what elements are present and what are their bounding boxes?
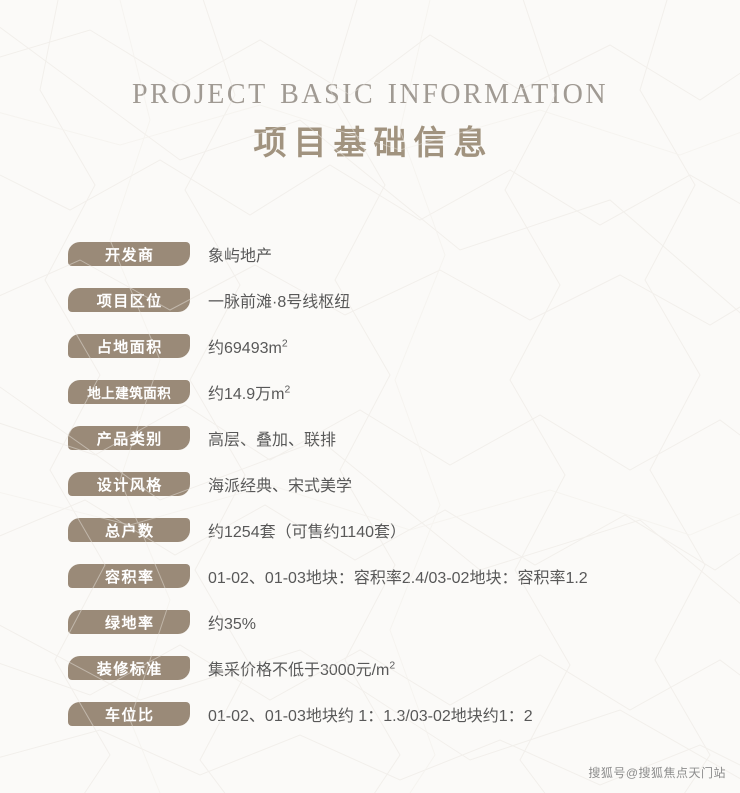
info-row: 地上建筑面积 约14.9万m2 — [68, 380, 740, 404]
info-row: 开发商 象屿地产 — [68, 242, 740, 266]
info-row: 车位比 01-02、01-03地块约 1：1.3/03-02地块约1：2 — [68, 702, 740, 726]
info-label-pill: 占地面积 — [68, 334, 190, 358]
info-row: 占地面积 约69493m2 — [68, 334, 740, 358]
info-label-pill: 地上建筑面积 — [68, 380, 190, 404]
info-value-text: 约69493m — [208, 340, 282, 357]
info-label-pill: 绿地率 — [68, 610, 190, 634]
info-value-superscript: 2 — [282, 339, 288, 350]
info-value: 约1254套（可售约1140套） — [208, 518, 406, 542]
info-value-text: 约14.9万m — [208, 386, 284, 403]
info-row: 项目区位 一脉前滩·8号线枢纽 — [68, 288, 740, 312]
info-value: 海派经典、宋式美学 — [208, 472, 352, 496]
page-header: Project Basic Information 项目基础信息 — [0, 0, 740, 164]
info-label-pill: 总户数 — [68, 518, 190, 542]
info-label-pill: 装修标准 — [68, 656, 190, 680]
info-value: 01-02、01-03地块：容积率2.4/03-02地块：容积率1.2 — [208, 564, 588, 588]
info-value-text: 集采价格不低于3000元/m — [208, 662, 389, 679]
info-row: 总户数 约1254套（可售约1140套） — [68, 518, 740, 542]
info-label-pill: 设计风格 — [68, 472, 190, 496]
info-value-superscript: 2 — [389, 661, 395, 672]
info-label-pill: 开发商 — [68, 242, 190, 266]
info-row: 绿地率 约35% — [68, 610, 740, 634]
page-title-english: Project Basic Information — [0, 68, 740, 112]
info-value: 01-02、01-03地块约 1：1.3/03-02地块约1：2 — [208, 702, 533, 726]
info-value: 高层、叠加、联排 — [208, 426, 336, 450]
info-value-superscript: 2 — [284, 385, 290, 396]
info-value: 集采价格不低于3000元/m2 — [208, 656, 395, 680]
info-row: 装修标准 集采价格不低于3000元/m2 — [68, 656, 740, 680]
info-label-pill: 项目区位 — [68, 288, 190, 312]
info-row: 产品类别 高层、叠加、联排 — [68, 426, 740, 450]
info-value: 象屿地产 — [208, 242, 272, 266]
document-page: Project Basic Information 项目基础信息 开发商 象屿地… — [0, 0, 740, 793]
info-row: 设计风格 海派经典、宋式美学 — [68, 472, 740, 496]
footer-watermark: 搜狐号@搜狐焦点天门站 — [588, 764, 726, 781]
info-value: 一脉前滩·8号线枢纽 — [208, 288, 350, 312]
page-title-chinese: 项目基础信息 — [0, 124, 740, 164]
project-info-list: 开发商 象屿地产 项目区位 一脉前滩·8号线枢纽 占地面积 约69493m2 地… — [0, 242, 740, 726]
info-value: 约69493m2 — [208, 334, 288, 358]
info-row: 容积率 01-02、01-03地块：容积率2.4/03-02地块：容积率1.2 — [68, 564, 740, 588]
info-value: 约35% — [208, 610, 256, 634]
info-label-pill: 容积率 — [68, 564, 190, 588]
info-label-pill: 车位比 — [68, 702, 190, 726]
info-label-pill: 产品类别 — [68, 426, 190, 450]
info-value: 约14.9万m2 — [208, 380, 290, 404]
